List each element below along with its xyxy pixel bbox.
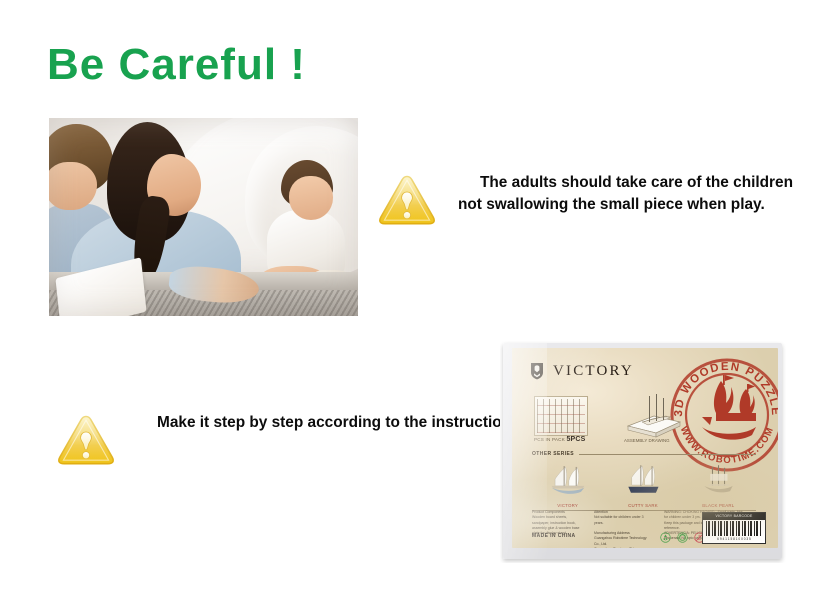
parts-count: 5PCS bbox=[566, 436, 585, 443]
family-photo bbox=[49, 118, 358, 316]
barcode-label: VICTORY BARCODE bbox=[703, 513, 765, 520]
parts-caption-small: PCS IN PACK bbox=[534, 437, 565, 442]
brand-name: VICTORY bbox=[553, 363, 634, 380]
green-dot-recycle-icon bbox=[677, 532, 688, 543]
shield-crest-icon bbox=[530, 362, 544, 380]
warning-triangle-icon bbox=[57, 414, 115, 466]
fine-print-manufacturer: Attention Not suitable for children unde… bbox=[594, 510, 652, 548]
barcode: VICTORY BARCODE 6 9 4 1 1 5 8 1 0 0 0 3 … bbox=[702, 512, 766, 544]
barcode-number: 6 9 4 1 1 5 8 1 0 0 0 3 5 bbox=[703, 536, 765, 542]
assembly-drawing-thumbnail bbox=[620, 392, 686, 438]
product-box-photo: VICTORY 3D WOODEN PUZZLE WWW.ROBOTIME.CO… bbox=[500, 341, 786, 563]
poster-page: Be Careful ! bbox=[0, 0, 819, 611]
box-back-face: VICTORY 3D WOODEN PUZZLE WWW.ROBOTIME.CO… bbox=[512, 348, 778, 548]
sailing-ship-icon bbox=[618, 461, 668, 497]
other-series-label: OTHER SERIES bbox=[532, 451, 574, 457]
list-item: CUTTY SARK bbox=[614, 461, 672, 508]
barcode-lines bbox=[706, 521, 762, 536]
list-item: BLACK PEARL bbox=[689, 461, 747, 508]
other-series-header: OTHER SERIES bbox=[532, 451, 756, 457]
warning-text-swallowing: The adults should take care of the child… bbox=[458, 172, 819, 216]
other-series-list: VICTORY CUTTY SARK bbox=[530, 460, 756, 508]
warning-triangle-icon bbox=[378, 174, 436, 226]
sailing-ship-icon bbox=[543, 461, 593, 497]
box-outer-edge: VICTORY 3D WOODEN PUZZLE WWW.ROBOTIME.CO… bbox=[503, 343, 782, 559]
baby-face-shape bbox=[289, 176, 333, 220]
assembly-caption: ASSEMBLY DRAWING bbox=[624, 438, 670, 443]
list-item: VICTORY bbox=[539, 461, 597, 508]
made-in-label: MADE IN CHINA bbox=[532, 533, 576, 539]
sailing-ship-icon bbox=[702, 375, 756, 440]
warning-block-swallowing: The adults should take care of the child… bbox=[378, 172, 819, 226]
page-title: Be Careful ! bbox=[47, 42, 306, 88]
parts-sheet-thumbnail bbox=[534, 396, 588, 436]
box-bottom-strip: Product Components Wooden board sheets, … bbox=[512, 506, 778, 548]
other-series-rule bbox=[579, 454, 756, 455]
sailing-ship-icon bbox=[693, 461, 743, 497]
recycle-icon bbox=[660, 532, 671, 543]
brand-row: VICTORY bbox=[530, 362, 634, 380]
parts-caption: PCS IN PACK 5PCS bbox=[534, 436, 586, 443]
